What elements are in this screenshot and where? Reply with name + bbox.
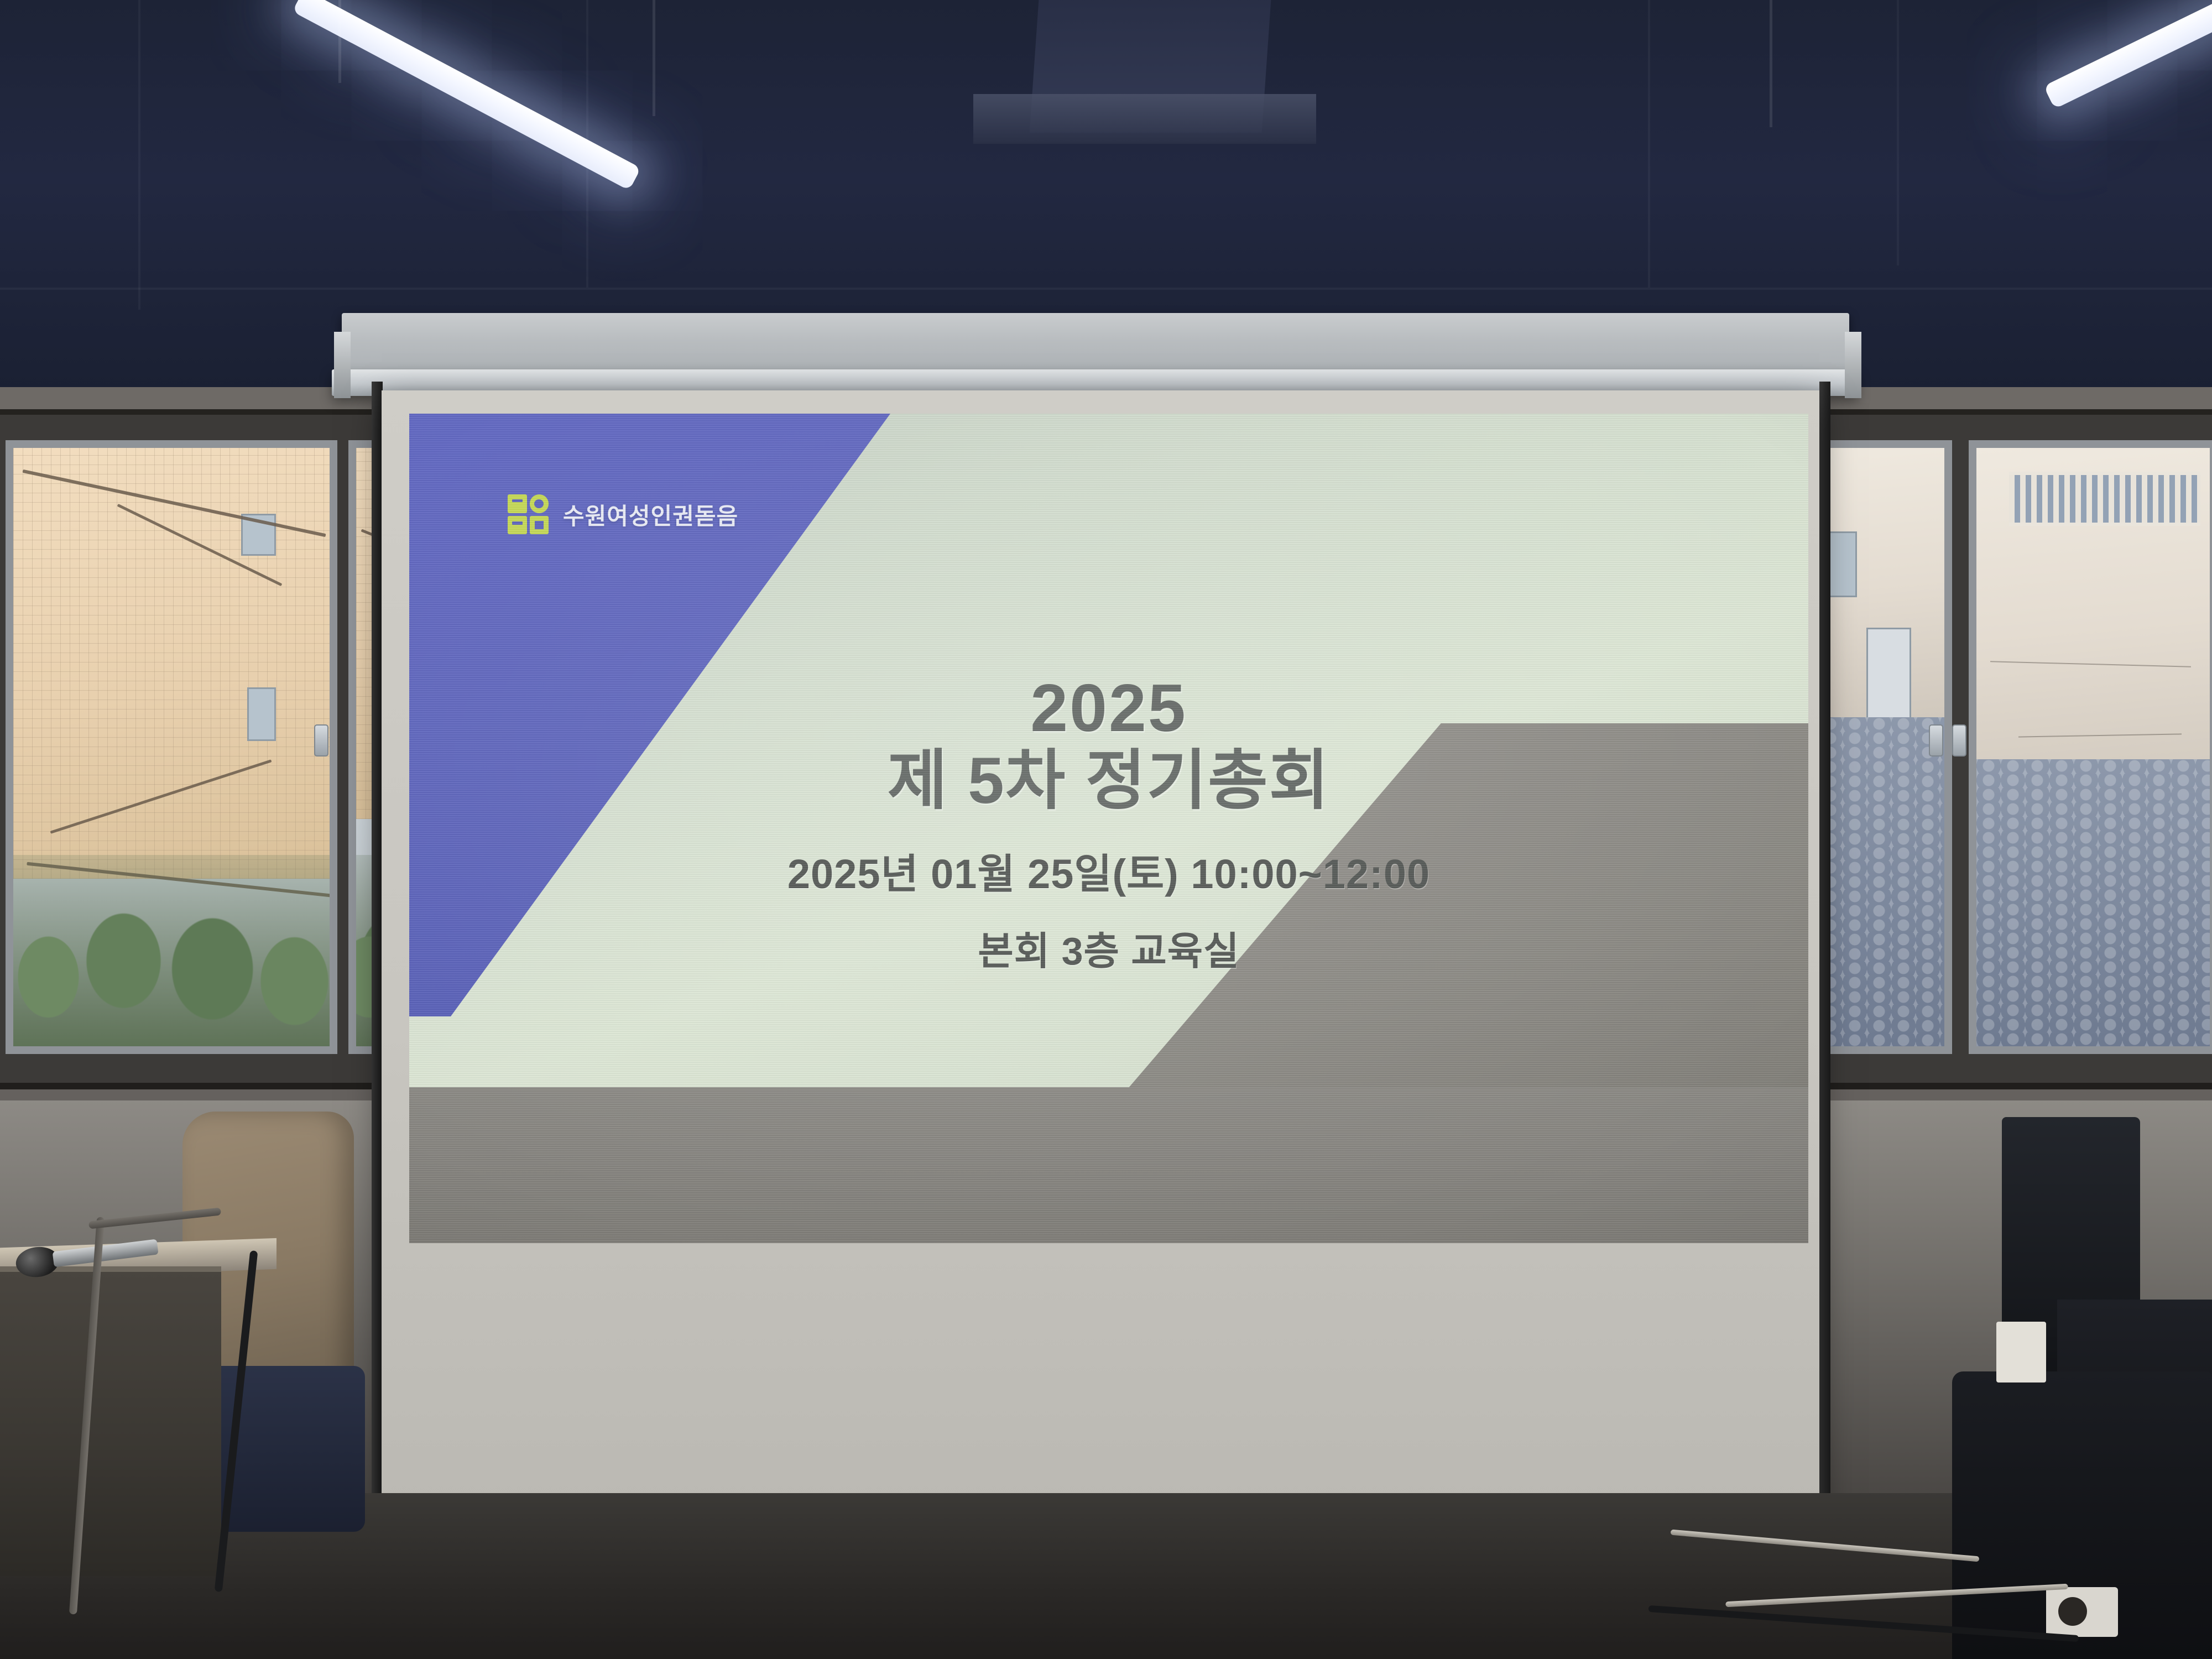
slide-bottom-band — [409, 1087, 1808, 1243]
ceiling-beam-plate — [973, 94, 1316, 144]
dodeum-logo-mark-icon — [508, 494, 549, 534]
screen-edge-right — [1819, 382, 1830, 1548]
slide-title: 제 5차 정기총회 — [409, 744, 1808, 817]
light-fixture-left — [138, 0, 559, 160]
slide-datetime: 2025년 01월 25일(토) 10:00~12:00 — [409, 841, 1808, 900]
wall-power-outlet[interactable] — [1996, 1322, 2046, 1383]
slide-venue: 본회 3층 교육실 — [409, 920, 1808, 976]
light-fixture-right — [1394, 0, 2212, 166]
projected-slide: 수원여성인권돋음 2025 제 5차 정기총회 2025년 01월 25일(토)… — [409, 414, 1808, 1243]
floor-power-outlet[interactable] — [2046, 1587, 2118, 1637]
screen-edge-left — [372, 382, 383, 1548]
room-scene: 수원여성인권돋음 2025 제 5차 정기총회 2025년 01월 25일(토)… — [0, 0, 2212, 1659]
window-right — [1969, 440, 2212, 1054]
window-band-right — [1786, 409, 2212, 1089]
screen-bracket-left — [334, 332, 351, 398]
slide-year: 2025 — [409, 674, 1808, 742]
window-left — [6, 440, 337, 1054]
fluorescent-tube-icon — [292, 0, 641, 191]
organization-name: 수원여성인권돋음 — [563, 498, 738, 531]
window-latch[interactable] — [1929, 724, 1943, 757]
table-left — [0, 1266, 221, 1576]
slide-text-block: 2025 제 5차 정기총회 2025년 01월 25일(토) 10:00~12… — [409, 674, 1808, 976]
organization-logo: 수원여성인권돋음 — [508, 494, 738, 534]
fluorescent-tube-icon — [2043, 0, 2212, 109]
window-band-left — [0, 409, 420, 1089]
screen-bracket-right — [1845, 332, 1861, 398]
window-latch[interactable] — [314, 724, 328, 757]
window-latch[interactable] — [1952, 724, 1966, 757]
